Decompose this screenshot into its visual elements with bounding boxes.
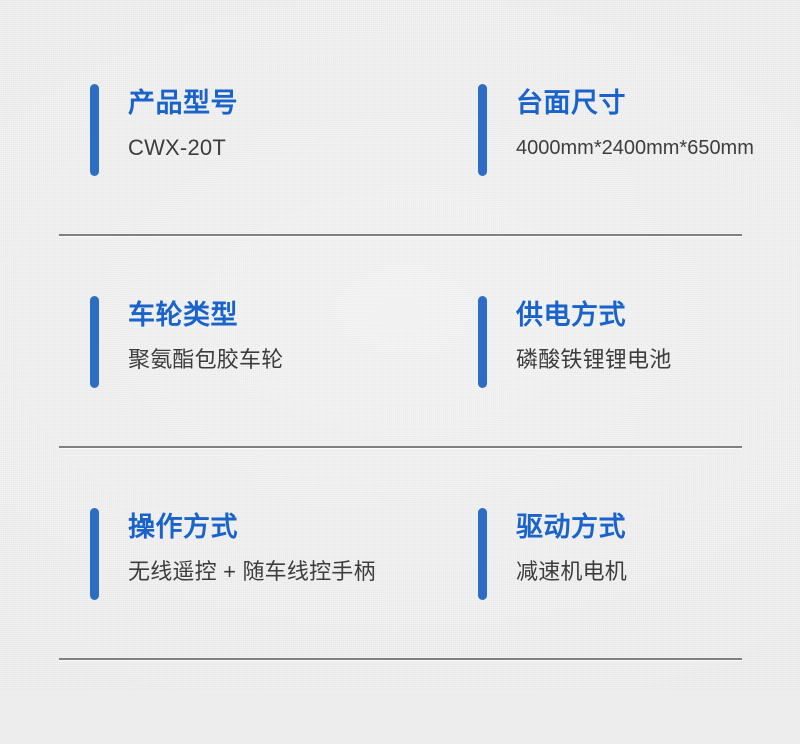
spec-item-text: 台面尺寸 4000mm*2400mm*650mm: [516, 82, 754, 162]
spec-title: 操作方式: [128, 510, 376, 544]
spec-row: 产品型号 CWX-20T 台面尺寸 4000mm*2400mm*650mm: [0, 82, 800, 176]
spec-item-product-model: 产品型号 CWX-20T: [0, 82, 390, 176]
spec-value: 减速机电机: [516, 558, 627, 586]
row-spacer: [0, 600, 800, 658]
product-spec-sheet: 产品型号 CWX-20T 台面尺寸 4000mm*2400mm*650mm 车轮…: [0, 0, 800, 692]
spec-title: 供电方式: [516, 298, 671, 332]
row-divider: [59, 658, 742, 660]
row-spacer: [0, 388, 800, 446]
spec-item-power-supply: 供电方式 磷酸铁锂锂电池: [390, 294, 800, 388]
spec-title: 台面尺寸: [516, 86, 754, 120]
bottom-spacer: [0, 660, 800, 744]
spec-title: 驱动方式: [516, 510, 627, 544]
spec-item-text: 操作方式 无线遥控 + 随车线控手柄: [128, 506, 376, 586]
spec-value: 磷酸铁锂锂电池: [516, 346, 671, 374]
row-spacer: [0, 448, 800, 506]
spec-item-text: 供电方式 磷酸铁锂锂电池: [516, 294, 671, 374]
row-divider: [59, 446, 742, 448]
accent-bar-icon: [478, 296, 487, 388]
accent-bar-icon: [478, 508, 487, 600]
spec-item-operation-mode: 操作方式 无线遥控 + 随车线控手柄: [0, 506, 390, 600]
spec-item-drive-mode: 驱动方式 减速机电机: [390, 506, 800, 600]
spec-item-wheel-type: 车轮类型 聚氨酯包胶车轮: [0, 294, 390, 388]
spec-title: 产品型号: [128, 86, 238, 120]
accent-bar-icon: [478, 84, 487, 176]
row-spacer: [0, 236, 800, 294]
spec-table: 产品型号 CWX-20T 台面尺寸 4000mm*2400mm*650mm 车轮…: [0, 82, 800, 660]
row-divider: [59, 234, 742, 236]
spec-item-text: 车轮类型 聚氨酯包胶车轮: [128, 294, 283, 374]
row-spacer: [0, 176, 800, 234]
spec-item-text: 驱动方式 减速机电机: [516, 506, 627, 586]
spec-item-table-size: 台面尺寸 4000mm*2400mm*650mm: [390, 82, 800, 176]
spec-value: CWX-20T: [128, 134, 238, 162]
spec-value: 聚氨酯包胶车轮: [128, 346, 283, 374]
accent-bar-icon: [90, 84, 99, 176]
spec-row: 操作方式 无线遥控 + 随车线控手柄 驱动方式 减速机电机: [0, 506, 800, 600]
spec-value: 无线遥控 + 随车线控手柄: [128, 558, 376, 586]
spec-row: 车轮类型 聚氨酯包胶车轮 供电方式 磷酸铁锂锂电池: [0, 294, 800, 388]
spec-item-text: 产品型号 CWX-20T: [128, 82, 238, 162]
accent-bar-icon: [90, 508, 99, 600]
top-spacer: [0, 0, 800, 82]
spec-title: 车轮类型: [128, 298, 283, 332]
spec-value: 4000mm*2400mm*650mm: [516, 134, 754, 162]
accent-bar-icon: [90, 296, 99, 388]
